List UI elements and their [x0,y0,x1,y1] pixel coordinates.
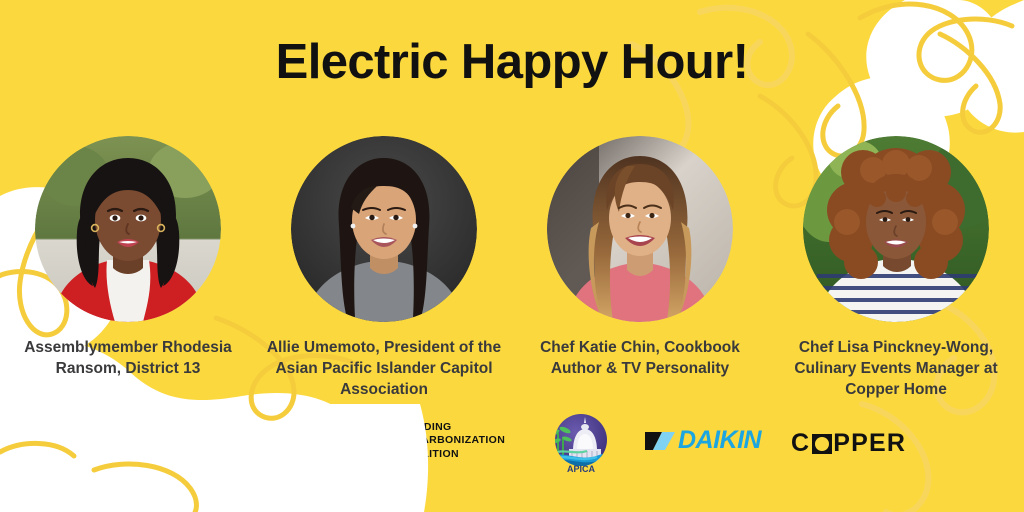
portrait-illustration-2 [291,136,477,322]
speaker-card-3: Chef Katie Chin, Cookbook Author & TV Pe… [512,136,768,396]
avatar-lisa-pinckney-wong [803,136,989,322]
portrait-illustration-1 [35,136,221,322]
speaker-card-4: Chef Lisa Pinckney-Wong, Culinary Events… [768,136,1024,396]
poster-canvas: Electric Happy Hour! [0,0,1024,512]
avatar-katie-chin [547,136,733,322]
speaker-caption-3: Chef Katie Chin, Cookbook Author & TV Pe… [515,338,765,380]
speaker-caption-1: Assemblymember Rhodesia Ransom, District… [3,338,253,380]
avatar-rhodesia-ransom [35,136,221,322]
white-bottom-band-2 [0,404,428,512]
speaker-card-2: Allie Umemoto, President of the Asian Pa… [256,136,512,396]
portrait-illustration-4 [803,136,989,322]
speaker-list: Assemblymember Rhodesia Ransom, District… [0,136,1024,396]
page-title: Electric Happy Hour! [0,36,1024,90]
portrait-illustration-3 [547,136,733,322]
speaker-card-1: Assemblymember Rhodesia Ransom, District… [0,136,256,396]
avatar-allie-umemoto [291,136,477,322]
speaker-caption-2: Allie Umemoto, President of the Asian Pa… [259,338,509,401]
speaker-caption-4: Chef Lisa Pinckney-Wong, Culinary Events… [771,338,1021,401]
